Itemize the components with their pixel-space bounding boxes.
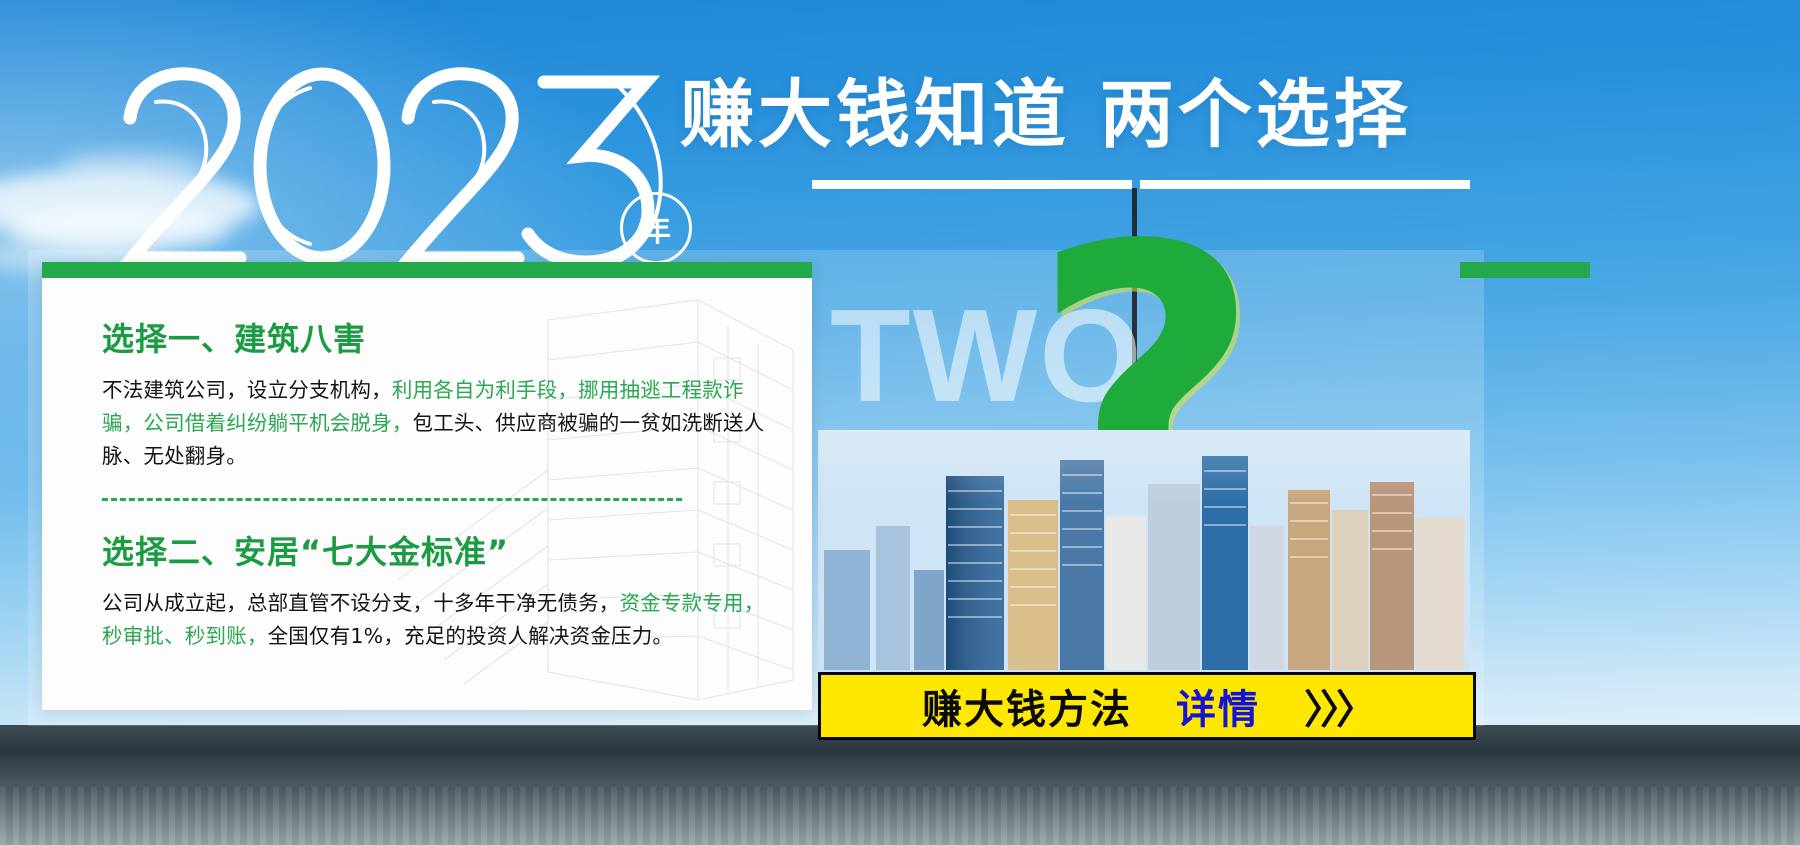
page-title: 赚大钱知道 两个选择 — [680, 78, 1412, 152]
card-top-accent-bar — [42, 262, 812, 278]
year-unit-label: 年 — [641, 206, 671, 250]
section-2-title: 选择二、安居“七大金标准” — [102, 527, 772, 573]
green-accent-bar-right — [1460, 262, 1590, 278]
section-1-body-part-1: 不法建筑公司，设立分支机构， — [102, 378, 392, 402]
card-section-1: 选择一、建筑八害 不法建筑公司，设立分支机构，利用各自为利手段，挪用抽逃工程款诈… — [102, 314, 772, 474]
section-divider — [102, 498, 682, 501]
card-content: 选择一、建筑八害 不法建筑公司，设立分支机构，利用各自为利手段，挪用抽逃工程款诈… — [102, 314, 772, 653]
cta-main-label: 赚大钱方法 — [922, 677, 1132, 735]
waterfront-strip — [0, 725, 1800, 845]
section-2-body-part-3: 全国仅有1%，充足的投资人解决资金压力。 — [268, 624, 674, 648]
year-unit-badge: 年 — [620, 192, 692, 264]
card-section-2: 选择二、安居“七大金标准” 公司从成立起，总部直管不设分支，十多年干净无债务，资… — [102, 527, 772, 653]
section-2-body: 公司从成立起，总部直管不设分支，十多年干净无债务，资金专款专用，秒审批、秒到账，… — [102, 587, 772, 653]
cta-detail-link[interactable]: 详情 — [1176, 677, 1260, 735]
section-1-body: 不法建筑公司，设立分支机构，利用各自为利手段，挪用抽逃工程款诈骗，公司借着纠纷躺… — [102, 374, 772, 474]
content-card: 选择一、建筑八害 不法建筑公司，设立分支机构，利用各自为利手段，挪用抽逃工程款诈… — [42, 262, 812, 710]
section-1-title: 选择一、建筑八害 — [102, 314, 772, 360]
promo-banner: .o{fill:none;stroke:#ffffff;stroke-width… — [0, 0, 1800, 845]
chevron-right-icon: 〉〉〉 — [1304, 677, 1372, 735]
cta-bar[interactable]: 赚大钱方法 详情 〉〉〉 — [818, 672, 1476, 740]
city-photo-overlay — [818, 430, 1470, 670]
city-skyline-photo — [818, 430, 1470, 670]
water-reflection — [0, 787, 1800, 845]
section-2-body-part-1: 公司从成立起，总部直管不设分支，十多年干净无债务， — [102, 591, 620, 615]
